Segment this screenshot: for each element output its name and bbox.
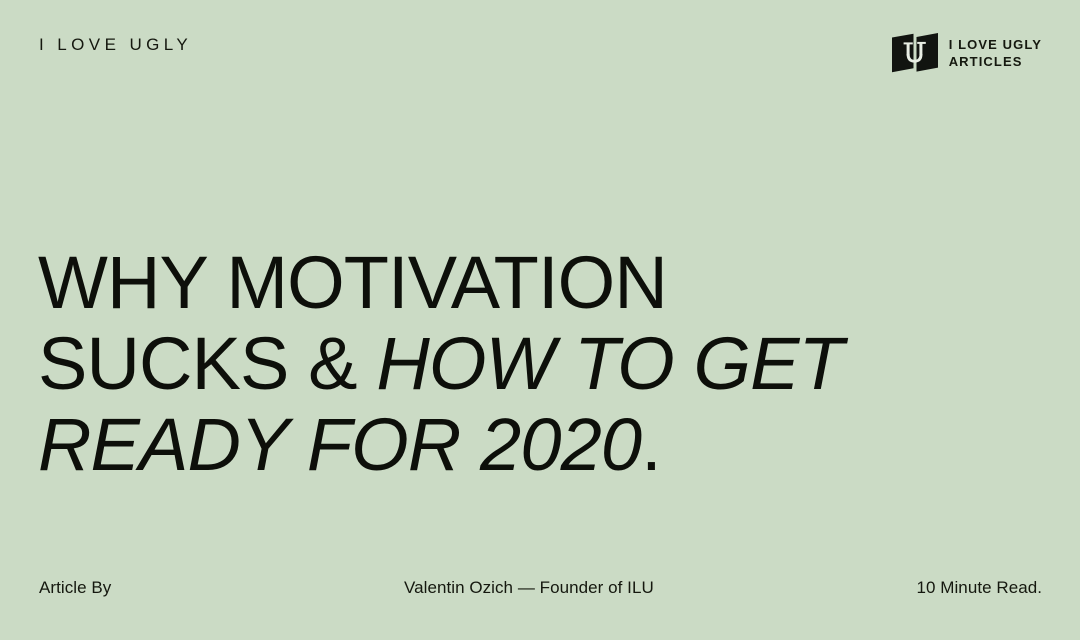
headline-line-3: READY FOR 2020.: [38, 404, 1038, 485]
article-headline: WHY MOTIVATION SUCKS & HOW TO GET READY …: [38, 242, 1038, 485]
ilu-u-logo-icon: [892, 33, 938, 73]
article-by-label: Article By: [39, 578, 111, 598]
headline-line-2-italic: HOW TO GET: [376, 322, 843, 405]
brand-wordmark[interactable]: I LOVE UGLY: [39, 36, 192, 53]
articles-badge-text: I LOVE UGLY ARTICLES: [949, 36, 1042, 70]
badge-line-2: ARTICLES: [949, 53, 1042, 70]
article-author: Valentin Ozich — Founder of ILU: [404, 578, 654, 598]
read-time: 10 Minute Read.: [916, 578, 1042, 598]
headline-line-2-roman: SUCKS &: [38, 322, 376, 405]
headline-line-1: WHY MOTIVATION: [38, 242, 1038, 323]
headline-line-1-roman: WHY MOTIVATION: [38, 241, 667, 324]
article-cover: I LOVE UGLY I LOVE UGLY ARTICLES: [0, 0, 1080, 640]
headline-line-3-italic: READY FOR 2020: [38, 403, 641, 486]
badge-line-1: I LOVE UGLY: [949, 36, 1042, 53]
articles-badge[interactable]: I LOVE UGLY ARTICLES: [892, 33, 1042, 73]
cover-footer: Article By Valentin Ozich — Founder of I…: [0, 578, 1080, 604]
headline-line-2: SUCKS & HOW TO GET: [38, 323, 1038, 404]
headline-line-3-roman: .: [641, 403, 661, 486]
